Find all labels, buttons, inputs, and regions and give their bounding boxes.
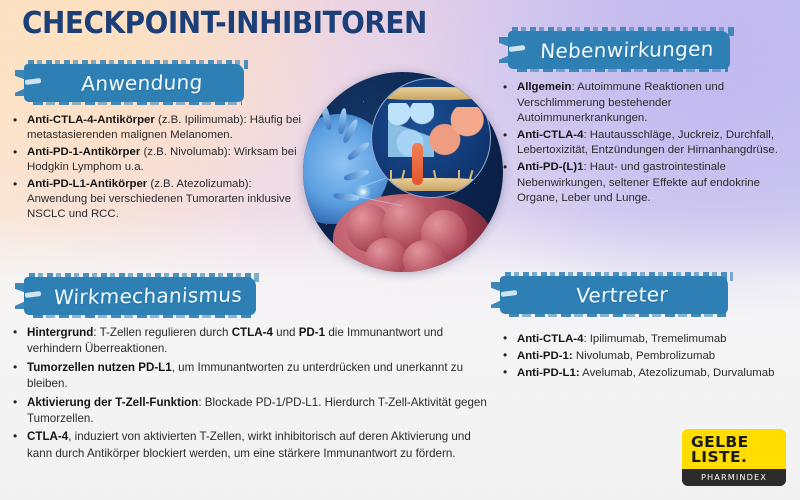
list-item-text: : Ipilimumab, Tremelimumab [583,333,726,345]
list-item-emphasis: CTLA-4 [232,326,273,339]
list-item: Tumorzellen nutzen PD-L1, um Immunantwor… [12,360,492,393]
list-item-text: und [273,326,299,339]
section-content-nebenwirkungen: Allgemein: Autoimmune Reaktionen und Ver… [502,80,794,208]
list-item-emphasis: Anti-PD-L1-Antikörper [27,178,147,190]
list-item: Anti-CTLA-4-Antikörper (z.B. Ipilimumab)… [12,113,312,144]
bullet-list: Anti-CTLA-4: Ipilimumab, TremelimumabAnt… [502,331,794,382]
list-item-text: : T-Zellen regulieren durch [93,326,231,339]
bullet-list: Anti-CTLA-4-Antikörper (z.B. Ipilimumab)… [12,113,312,223]
logo-dot: . [741,448,747,466]
list-item-emphasis: Anti-CTLA-4-Antikörper [27,114,155,126]
logo-subtitle: PHARMINDEX [682,469,786,486]
list-item: Hintergrund: T-Zellen regulieren durch C… [12,325,492,358]
list-item-emphasis: PD-1 [299,326,325,339]
list-item-text: Avelumab, Atezolizumab, Durvalumab [580,367,775,379]
list-item-emphasis: Anti-PD-1: [517,350,573,362]
list-item-emphasis: Anti-CTLA-4 [517,333,583,345]
section-banner-wirkmechanismus: Wirkmechanismus [24,277,256,315]
list-item-emphasis: Allgemein [517,81,571,93]
hero-illustration [303,72,503,272]
section-banner-label: Anwendung [23,62,245,103]
cell-membrane-top [371,87,491,100]
list-item-text: Nivolumab, Pembrolizumab [573,350,715,362]
gelbe-liste-logo[interactable]: GELBE LISTE. PHARMINDEX [682,429,786,486]
bullet-list: Allgemein: Autoimmune Reaktionen und Ver… [502,80,794,207]
cell-membrane-bottom [371,178,491,191]
bullet-list: Hintergrund: T-Zellen regulieren durch C… [12,325,492,462]
antibody-red [428,107,484,165]
section-banner-nebenwirkungen: Nebenwirkungen [508,31,730,69]
logo-line-2-text: LISTE [691,448,741,466]
list-item: Anti-PD-1: Nivolumab, Pembrolizumab [502,348,794,364]
list-item: Allgemein: Autoimmune Reaktionen und Ver… [502,80,794,127]
section-content-anwendung: Anti-CTLA-4-Antikörper (z.B. Ipilimumab)… [12,113,312,224]
list-item-emphasis: Anti-CTLA-4 [517,129,583,141]
tumor-cell-lobe [365,238,407,272]
section-banner-anwendung: Anwendung [24,64,244,102]
list-item-emphasis: Anti-PD-1-Antikörper [27,146,140,158]
section-banner-label: Nebenwirkungen [507,29,731,70]
list-item: CTLA-4, induziert von aktivierten T-Zell… [12,429,492,462]
section-banner-label: Wirkmechanismus [23,275,257,316]
list-item: Aktivierung der T-Zell-Funktion: Blockad… [12,395,492,428]
list-item: Anti-PD-L1-Antikörper (z.B. Atezolizumab… [12,177,312,223]
list-item-emphasis: Aktivierung der T-Zell-Funktion [27,396,198,409]
magnified-inset [371,78,491,198]
section-banner-label: Vertreter [499,274,729,315]
list-item-text: , induziert von aktivierten T-Zellen, wi… [27,430,471,459]
page-title: CHECKPOINT-INHIBITOREN [22,9,427,39]
list-item: Anti-PD-(L)1: Haut- und gastrointestinal… [502,160,794,207]
light-flare [355,184,371,200]
list-item-emphasis: Tumorzellen nutzen PD-L1 [27,361,172,374]
receptor [390,170,392,181]
tumor-cell-lobe [403,240,447,272]
section-banner-vertreter: Vertreter [500,276,728,314]
list-item-emphasis: Anti-PD-(L)1 [517,161,583,173]
list-item: Anti-PD-L1: Avelumab, Atezolizumab, Durv… [502,365,794,381]
logo-yellow-block: GELBE LISTE. [682,429,786,469]
list-item: Anti-CTLA-4: Hautausschläge, Juckreiz, D… [502,128,794,159]
list-item-emphasis: Hintergrund [27,326,93,339]
section-content-wirkmechanismus: Hintergrund: T-Zellen regulieren durch C… [12,325,492,464]
list-item: Anti-PD-1-Antikörper (z.B. Nivolumab): W… [12,145,312,176]
list-item: Anti-CTLA-4: Ipilimumab, Tremelimumab [502,331,794,347]
logo-line-2: LISTE. [691,450,777,465]
receptor-stem-red [412,143,423,185]
receptor [458,170,460,181]
list-item-emphasis: Anti-PD-L1: [517,367,580,379]
list-item-emphasis: CTLA-4 [27,430,68,443]
section-content-vertreter: Anti-CTLA-4: Ipilimumab, TremelimumabAnt… [502,331,794,383]
